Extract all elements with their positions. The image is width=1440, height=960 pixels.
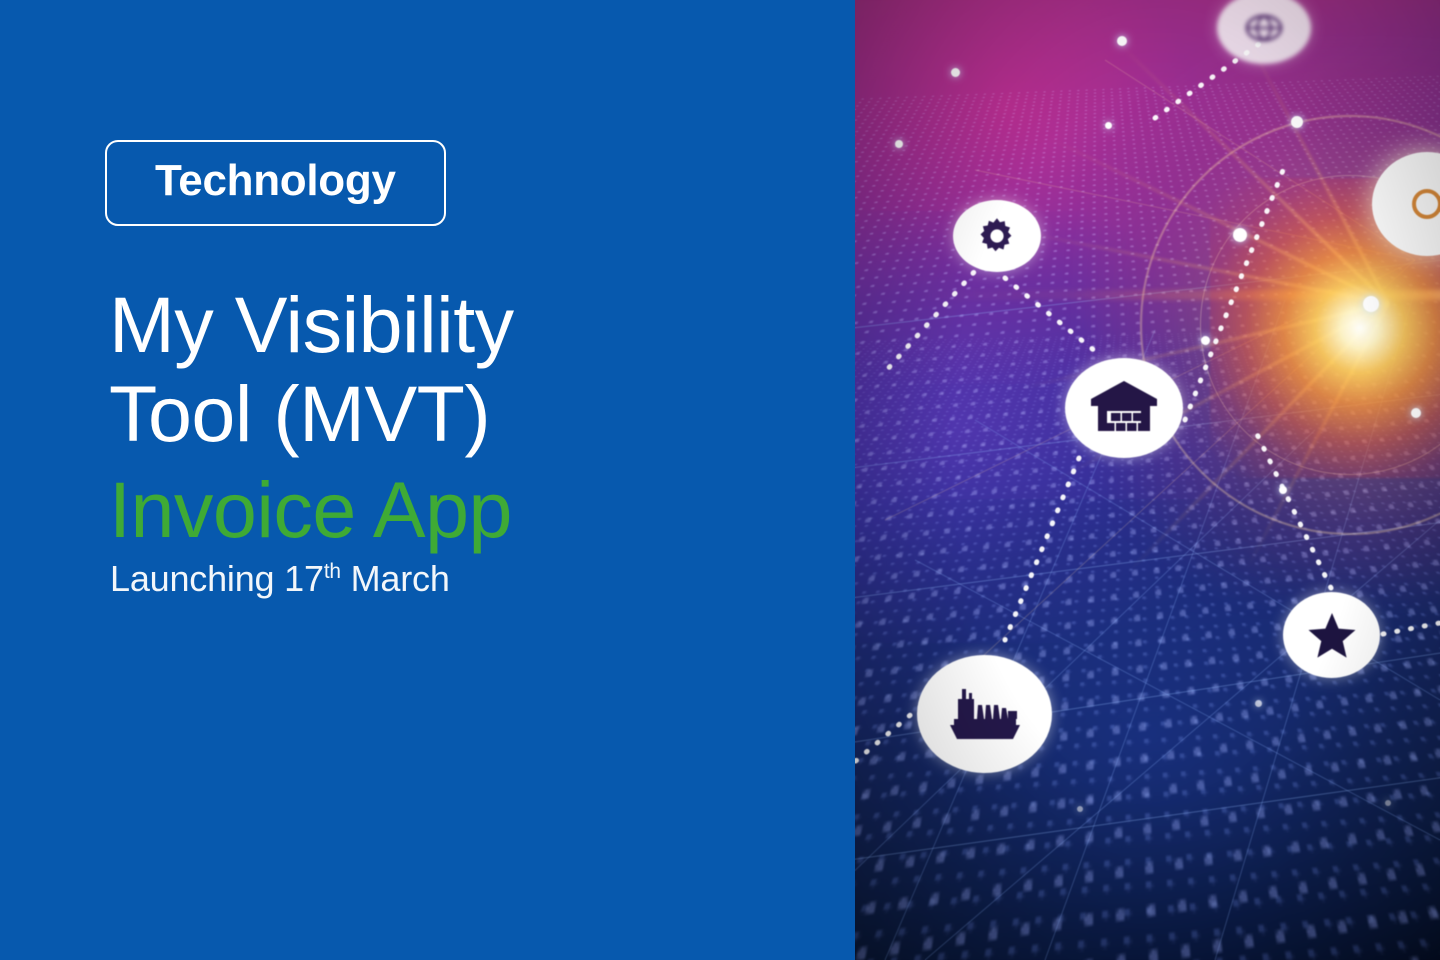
launch-day: 17 [284, 558, 324, 599]
left-text-panel: Technology My Visibility Tool (MVT) Invo… [0, 0, 855, 960]
image-vignette [855, 0, 1440, 960]
headline-line-1: My Visibility [109, 280, 745, 369]
headline-line-2: Tool (MVT) [109, 369, 745, 458]
launch-ordinal-suffix: th [324, 560, 341, 583]
category-badge-label: Technology [155, 159, 396, 203]
launch-month: March [341, 558, 450, 599]
slide-content: Technology My Visibility Tool (MVT) Invo… [105, 140, 745, 600]
category-badge: Technology [105, 140, 446, 226]
hero-image-panel [855, 0, 1440, 960]
page-title: My Visibility Tool (MVT) [109, 280, 745, 459]
launch-prefix: Launching [110, 558, 284, 599]
launch-date: Launching 17th March [110, 558, 745, 600]
promo-slide: Technology My Visibility Tool (MVT) Invo… [0, 0, 1440, 960]
subtitle-invoice-app: Invoice App [109, 465, 745, 554]
